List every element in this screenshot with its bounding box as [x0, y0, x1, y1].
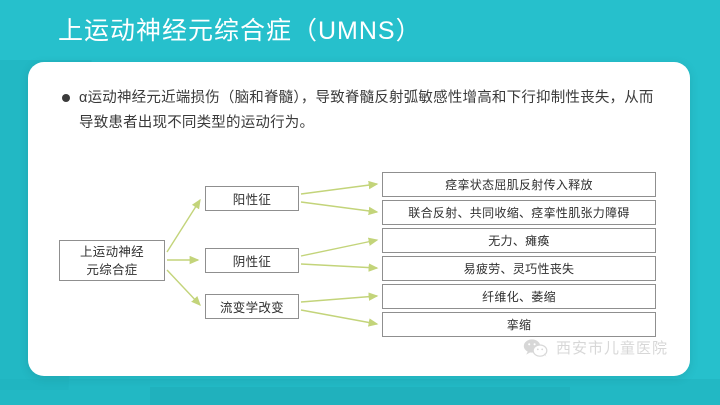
umns-classification-diagram: 上运动神经 元综合症 阳性征 阴性征 流变学改变 痉挛状态屈肌反射传入释放 联合… — [28, 62, 690, 376]
watermark: 西安市儿童医院 — [523, 337, 668, 358]
page-title: 上运动神经元综合症（UMNS） — [58, 11, 422, 47]
diagram-node-leaf-1: 痉挛状态屈肌反射传入释放 — [382, 172, 656, 197]
diagram-node-leaf-3: 无力、瘫痪 — [382, 228, 656, 253]
diagram-node-branch-rheologic: 流变学改变 — [205, 294, 299, 319]
diagram-node-root-line1: 上运动神经 — [80, 243, 144, 261]
diagram-node-leaf-2: 联合反射、共同收缩、痉挛性肌张力障碍 — [382, 200, 656, 225]
diagram-node-branch-positive: 阳性征 — [205, 186, 299, 211]
watermark-label: 西安市儿童医院 — [556, 337, 668, 358]
content-card: α运动神经元近端损伤（脑和脊髓），导致脊髓反射弧敏感性增高和下行抑制性丧失，从而… — [28, 62, 690, 376]
wechat-icon — [523, 338, 549, 358]
diagram-node-root-line2: 元综合症 — [80, 261, 144, 279]
diagram-node-branch-negative: 阴性征 — [205, 248, 299, 273]
background-band-bottom-accent — [150, 387, 570, 405]
slide: 上运动神经元综合症（UMNS） α运动神经元近端损伤（脑和脊髓），导致脊髓反射弧… — [0, 0, 720, 405]
diagram-node-leaf-5: 纤维化、萎缩 — [382, 284, 656, 309]
background-band-bottom — [0, 379, 720, 405]
diagram-node-leaf-6: 挛缩 — [382, 312, 656, 337]
diagram-node-leaf-4: 易疲劳、灵巧性丧失 — [382, 256, 656, 281]
diagram-node-root: 上运动神经 元综合症 — [59, 240, 165, 281]
